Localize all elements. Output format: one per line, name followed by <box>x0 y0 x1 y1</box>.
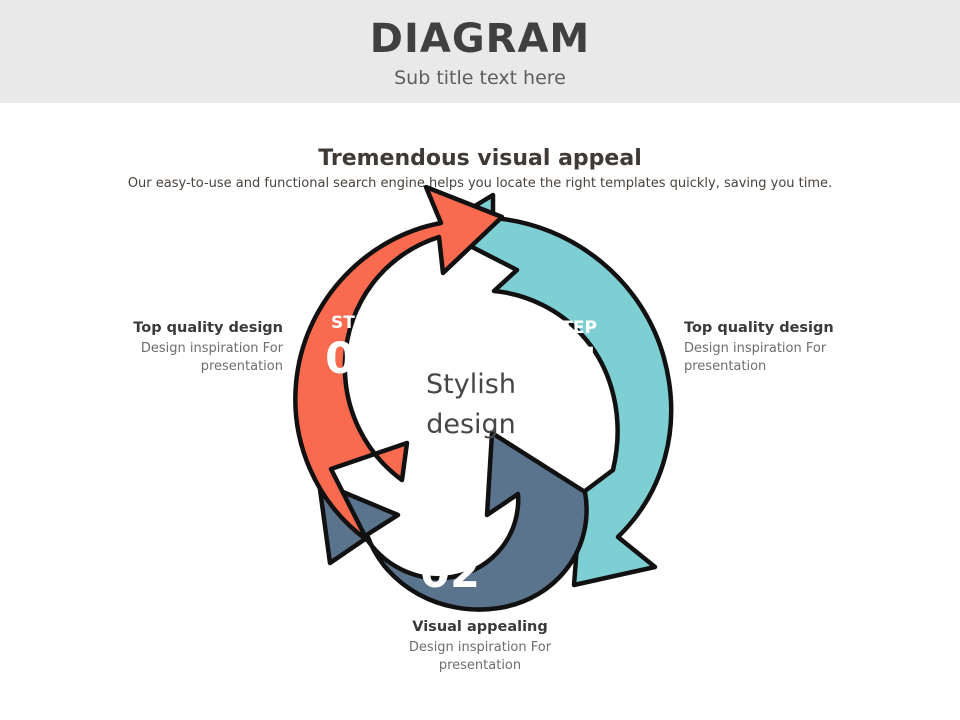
step-03-step-label: STEP <box>331 313 379 333</box>
step-02-number: 02 <box>420 548 480 598</box>
center-line-2: design <box>426 409 516 440</box>
center-line-1: Stylish <box>426 369 516 400</box>
step-03-number: 03 <box>325 334 385 384</box>
diagram-center-label: Stylish design <box>426 369 516 440</box>
page-subtitle: Sub title text here <box>0 66 960 90</box>
page-title: DIAGRAM <box>0 16 960 62</box>
callout-left-title: Top quality design <box>103 318 283 338</box>
step-01-number: 01 <box>543 339 603 389</box>
callout-right-desc-line2: presentation <box>684 358 864 376</box>
callout-bottom-title: Visual appealing <box>380 617 580 637</box>
callout-bottom-desc-line1: Design inspiration For <box>380 639 580 657</box>
step-01-step-label: STEP <box>549 318 597 338</box>
slide-root: DIAGRAM Sub title text here Tremendous v… <box>0 0 960 720</box>
callout-bottom-desc-line2: presentation <box>380 657 580 675</box>
cycle-arrow-step-03[interactable]: STEP 03 <box>295 187 502 540</box>
callout-right[interactable]: Top quality design Design inspiration Fo… <box>684 318 864 376</box>
cycle-diagram: STEP 01 STEP 02 STEP 03 Stylish design <box>255 185 715 625</box>
callout-left-desc-line1: Design inspiration For <box>103 340 283 358</box>
callout-bottom[interactable]: Visual appealing Design inspiration For … <box>380 617 580 675</box>
callout-right-desc-line1: Design inspiration For <box>684 340 864 358</box>
step-02-step-label: STEP <box>426 527 474 547</box>
callout-left[interactable]: Top quality design Design inspiration Fo… <box>103 318 283 376</box>
callout-left-desc-line2: presentation <box>103 358 283 376</box>
section-heading: Tremendous visual appeal <box>0 146 960 172</box>
callout-right-title: Top quality design <box>684 318 864 338</box>
